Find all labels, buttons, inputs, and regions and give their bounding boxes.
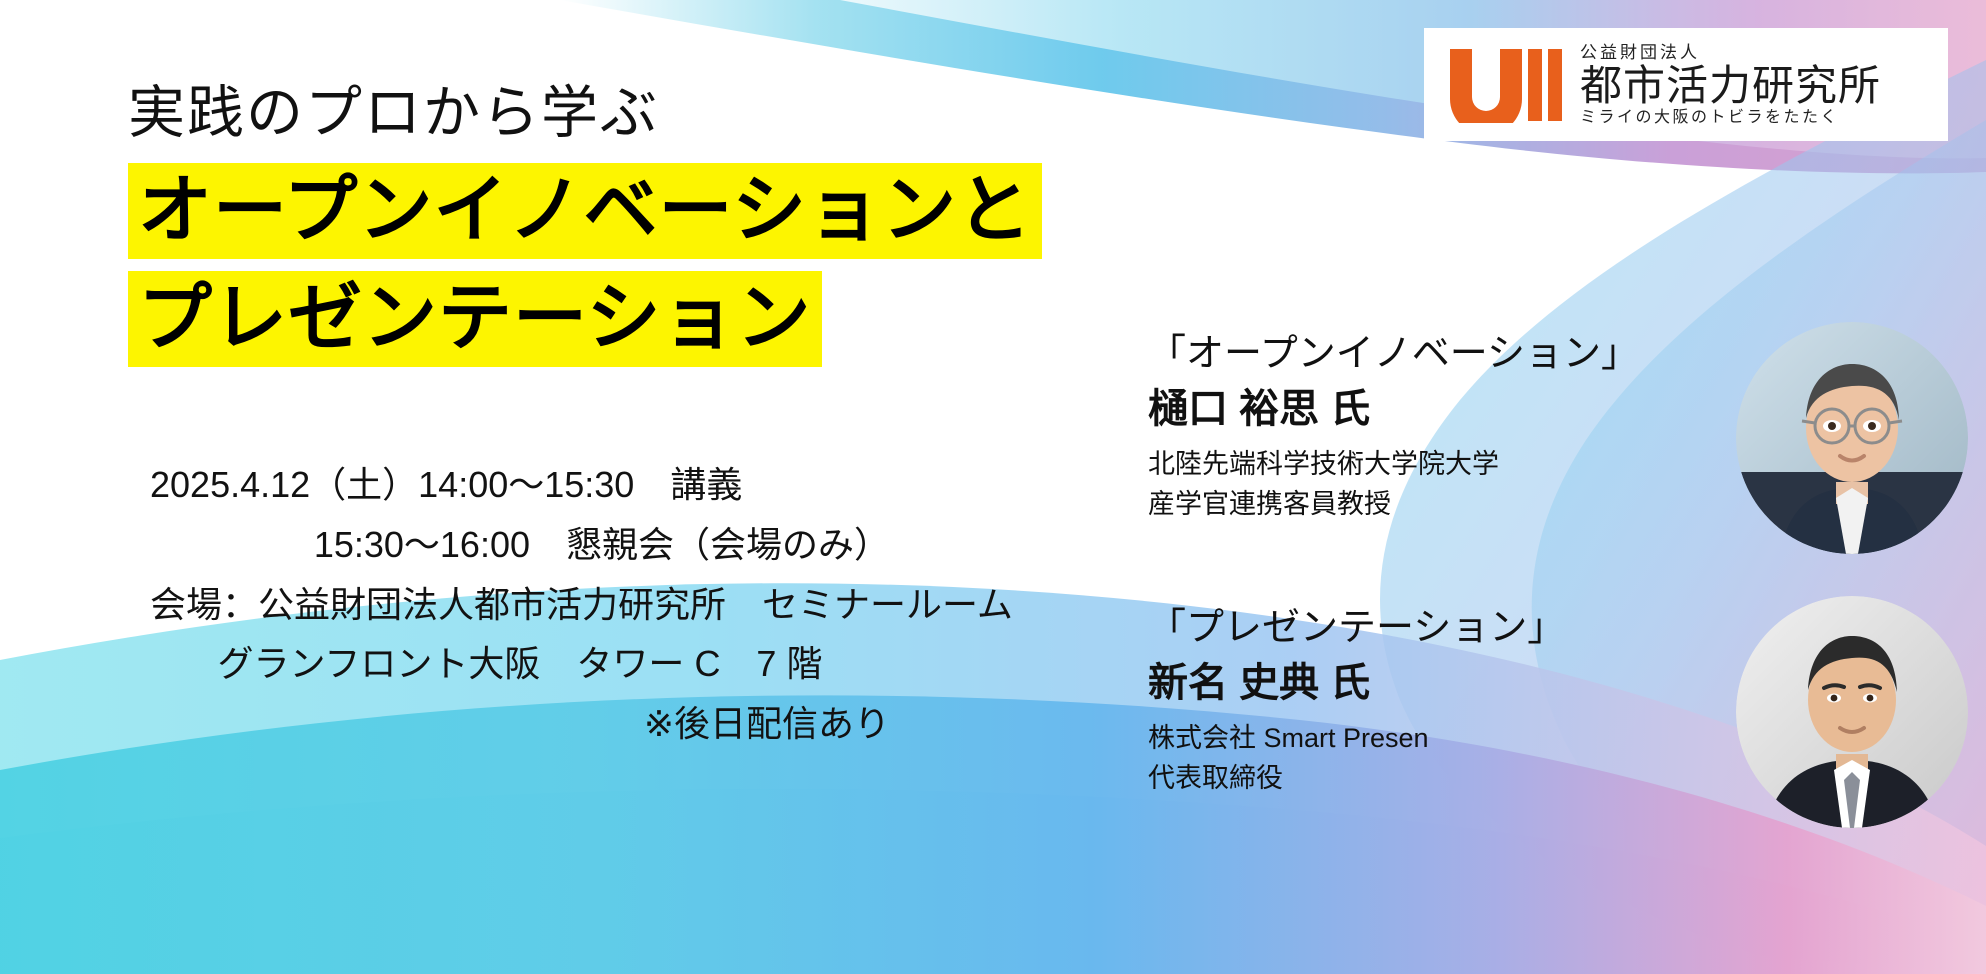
speaker-2-affiliation-line-2: 代表取締役 [1148,759,1658,798]
title-highlight-line-1: オープンイノベーションと [128,163,1042,259]
event-details: 2025.4.12（土）14:00〜15:30 講義 15:30〜16:00 懇… [150,455,890,754]
title-highlight-row-2: プレゼンテーション [128,271,1042,367]
detail-line-note: ※後日配信あり [150,694,890,754]
detail-line-schedule-lecture: 2025.4.12（土）14:00〜15:30 講義 [150,455,890,515]
speaker-1-affiliation-line-2: 産学官連携客員教授 [1148,485,1658,524]
logo-tagline: ミライの大阪のトビラをたたく [1580,110,1881,126]
uii-logo-mark-icon [1446,47,1566,123]
speaker-1-affiliation-line-1: 北陸先端科学技術大学院大学 [1148,445,1658,484]
speaker-1-topic: 「オープンイノベーション」 [1148,330,1658,379]
detail-line-venue: 会場：公益財団法人都市活力研究所 セミナールーム [150,575,890,635]
detail-line-venue-address: グランフロント大阪 タワー C 7 階 [150,634,890,694]
speaker-2-topic: 「プレゼンテーション」 [1148,604,1658,653]
speaker-photo-niina [1736,596,1968,828]
speaker-card-2: 「プレゼンテーション」 新名 史典 氏 株式会社 Smart Presen 代表… [1148,604,1968,854]
detail-line-schedule-social: 15:30〜16:00 懇親会（会場のみ） [150,515,890,575]
speaker-photo-higuchi [1736,322,1968,554]
event-flyer: 公益財団法人 都市活力研究所 ミライの大阪のトビラをたたく 実践のプロから学ぶ … [0,0,1986,974]
logo-org-prefix: 公益財団法人 [1580,44,1881,61]
speaker-2-affiliation-line-1: 株式会社 Smart Presen [1148,719,1658,758]
title-highlight-row-1: オープンイノベーションと [128,163,1042,259]
speaker-2-name: 新名 史典 氏 [1148,657,1658,709]
speaker-1-name: 樋口 裕思 氏 [1148,383,1658,435]
title-highlight-line-2: プレゼンテーション [128,271,822,367]
logo-org-name: 都市活力研究所 [1580,65,1881,107]
page-title: 実践のプロから学ぶ オープンイノベーションと プレゼンテーション [128,80,1042,379]
speaker-2-text: 「プレゼンテーション」 新名 史典 氏 株式会社 Smart Presen 代表… [1148,604,1658,798]
organization-logo: 公益財団法人 都市活力研究所 ミライの大阪のトビラをたたく [1424,28,1948,141]
speaker-card-1: 「オープンイノベーション」 樋口 裕思 氏 北陸先端科学技術大学院大学 産学官連… [1148,330,1968,580]
title-lead-text: 実践のプロから学ぶ [128,80,1042,147]
speaker-1-text: 「オープンイノベーション」 樋口 裕思 氏 北陸先端科学技術大学院大学 産学官連… [1148,330,1658,524]
speakers-list: 「オープンイノベーション」 樋口 裕思 氏 北陸先端科学技術大学院大学 産学官連… [1148,330,1968,854]
